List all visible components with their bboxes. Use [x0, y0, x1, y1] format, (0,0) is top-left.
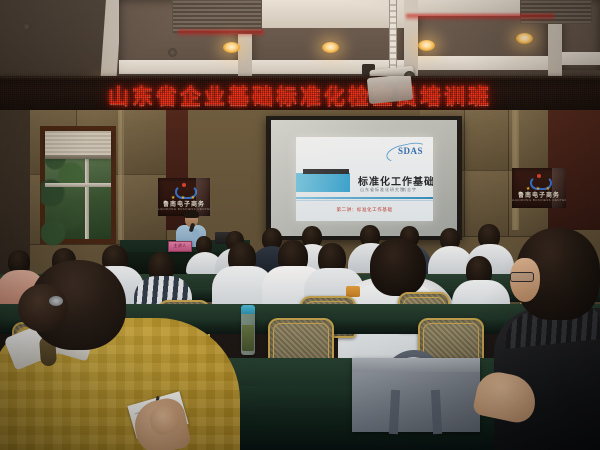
slide-divider-thin	[296, 200, 433, 201]
ceiling	[0, 0, 600, 84]
ceiling-downlight	[322, 42, 339, 53]
chair-inner-frame	[273, 323, 329, 361]
slide-accent-bar	[303, 169, 349, 174]
slide-accent-block	[296, 173, 350, 192]
person-black-ruffle-top	[470, 232, 600, 450]
ceiling-downlight	[223, 42, 240, 53]
ceiling-downlight	[418, 40, 435, 51]
company-logo-icon	[175, 183, 193, 195]
window-mullion	[45, 183, 111, 187]
hair-bun	[18, 284, 68, 332]
ceiling-panel-white	[562, 52, 600, 65]
ceiling-soffit-left	[0, 0, 105, 84]
banner-title: 山东省企业基础标准化检查员培训班	[108, 81, 492, 111]
ceiling-panel-white	[418, 56, 548, 70]
woman-taking-notes	[0, 262, 240, 450]
wall-panel	[464, 110, 509, 171]
wall-panel	[122, 110, 167, 175]
name-plate-text: 主讲人	[169, 243, 191, 249]
cove-light-glow	[406, 14, 554, 21]
slide-subtitle-presenter: 刘志宇	[402, 187, 417, 193]
air-vent	[172, 0, 262, 34]
name-plate: 主讲人	[168, 241, 192, 252]
ceiling-panel-white	[252, 0, 404, 28]
ceiling-downlight	[516, 33, 533, 44]
banner-frame	[0, 76, 600, 80]
company-logo-icon	[530, 174, 548, 186]
tea-bottle-contents	[242, 325, 254, 351]
presentation-slide: SDAS 标准化工作基础 山东省标准化研究院 刘志宇 第二讲：标准化工作基础	[296, 137, 433, 221]
tote-bag-fold	[352, 358, 480, 372]
projector-pole	[389, 0, 397, 72]
led-banner: 山东省企业基础标准化检查员培训班	[0, 76, 600, 114]
slide-title: 标准化工作基础	[358, 173, 433, 188]
cove-light-glow	[178, 30, 264, 37]
wall-light-strip	[118, 110, 124, 240]
window-blind	[45, 131, 111, 157]
plaque-glass-reflection	[552, 168, 566, 208]
projector-occluder	[367, 76, 413, 104]
slide-subtitle-org: 山东省标准化研究院	[360, 187, 405, 193]
window	[40, 126, 116, 244]
wall-logo-plaque-left: ★ ★ ★ 鲁南电子商务 SHANDONG BUSINESS CENTER	[158, 178, 210, 216]
wall-logo-plaque-right: ★ ★ ★ 鲁南电子商务 SHANDONG BUSINESS CENTER	[512, 168, 566, 208]
ceiling-speaker-icon	[22, 22, 31, 31]
slide-logo-text: SDAS	[398, 146, 423, 156]
window-blind-bar	[45, 155, 111, 159]
plaque-glass-reflection	[196, 178, 210, 216]
glasses-icon	[510, 272, 534, 282]
speaker-hair	[184, 210, 199, 218]
slide-divider	[296, 197, 433, 199]
ceiling-panel-white	[119, 60, 238, 74]
hair-clip-icon	[49, 296, 63, 306]
tea-bottle-cap[interactable]	[241, 305, 255, 314]
slide-footer: 第二讲：标准化工作基础	[336, 207, 392, 213]
person-head	[370, 238, 426, 296]
conference-room-photo: 山东省企业基础标准化检查员培训班 ★ ★ ★ 鲁南电子商务 SHANDONG B…	[0, 0, 600, 450]
ceiling-speaker-icon	[168, 48, 177, 57]
